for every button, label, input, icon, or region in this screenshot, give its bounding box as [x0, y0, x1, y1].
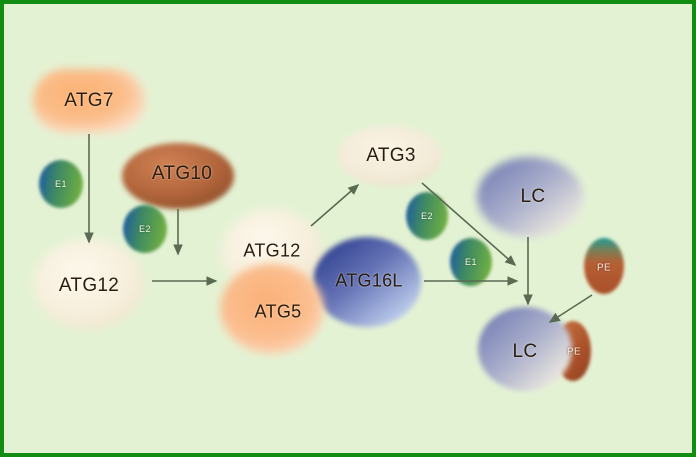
node-shape-atg3	[338, 126, 442, 186]
node-shape-atg16l	[313, 237, 421, 327]
node-shape-lc-free	[477, 157, 583, 237]
node-shape-atg7	[33, 69, 145, 133]
node-shape-pe-free	[584, 238, 624, 294]
node-shape-e1-left	[39, 160, 83, 208]
pathway-diagram-canvas: ATG7 E1 ATG12 ATG10 E2 ATG12 ATG5 ATG16L…	[0, 0, 696, 457]
pathway-diagram-svg	[4, 4, 696, 457]
node-shape-atg12-free	[34, 239, 144, 329]
node-shape-e2-left	[123, 205, 167, 253]
arrow-complex-to-atg3	[311, 185, 358, 226]
node-shape-e1-right	[450, 238, 492, 286]
node-shape-atg5	[220, 264, 324, 354]
node-shape-lc-conjugated	[478, 307, 572, 391]
node-shape-e2-right	[406, 192, 448, 240]
arrow-pe-to-lcpe	[550, 295, 592, 322]
node-shape-atg10	[122, 143, 234, 209]
